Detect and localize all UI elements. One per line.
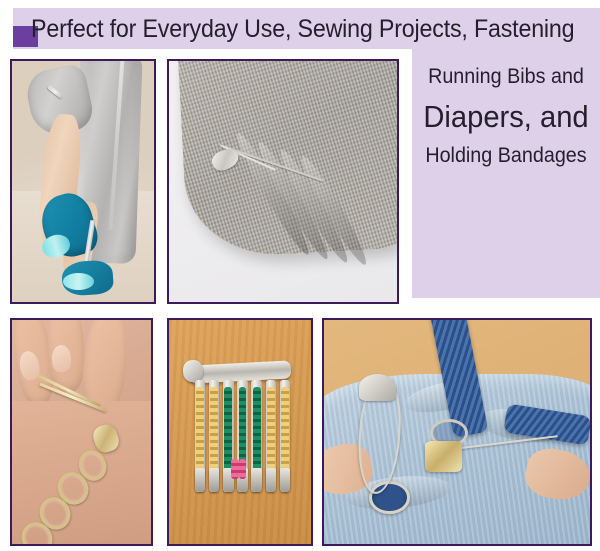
photo-hoodie-drawstring [322,318,592,546]
beaded-pin-foot [195,468,206,493]
beaded-pin-foot [266,468,277,493]
bead-accent-pink [239,459,247,479]
product-infographic: Perfect for Everyday Use, Sewing Project… [0,0,600,551]
beaded-pin-foot [209,468,220,493]
photo-beaded-pins [167,318,313,546]
trouser-crease [109,59,125,230]
photo-trouser-hem [10,59,156,304]
safety-pin-clasp-icon [425,441,462,472]
photo-knit-fabric-scene [169,61,397,302]
side-text-line-3: Holding Bandages [418,144,595,168]
photo-beaded-pins-scene [169,320,311,544]
photo-gold-chain-scene [12,320,151,544]
page-title: Perfect for Everyday Use, Sewing Project… [31,10,552,48]
side-text-panel: Running Bibs and Diapers, and Holding Ba… [412,49,600,298]
shoe-toe-strap-second [63,273,94,290]
photo-hoodie-drawstring-scene [324,320,590,544]
photo-gold-chain [10,318,153,546]
beaded-pin-foot [251,468,262,493]
beaded-pin-foot [280,468,291,493]
safety-pin-head-icon [359,374,396,401]
photo-trouser-hem-scene [12,61,154,302]
side-text-line-2: Diapers, and [418,99,595,135]
photo-knit-fabric [167,59,399,304]
side-text-line-1: Running Bibs and [418,65,595,89]
